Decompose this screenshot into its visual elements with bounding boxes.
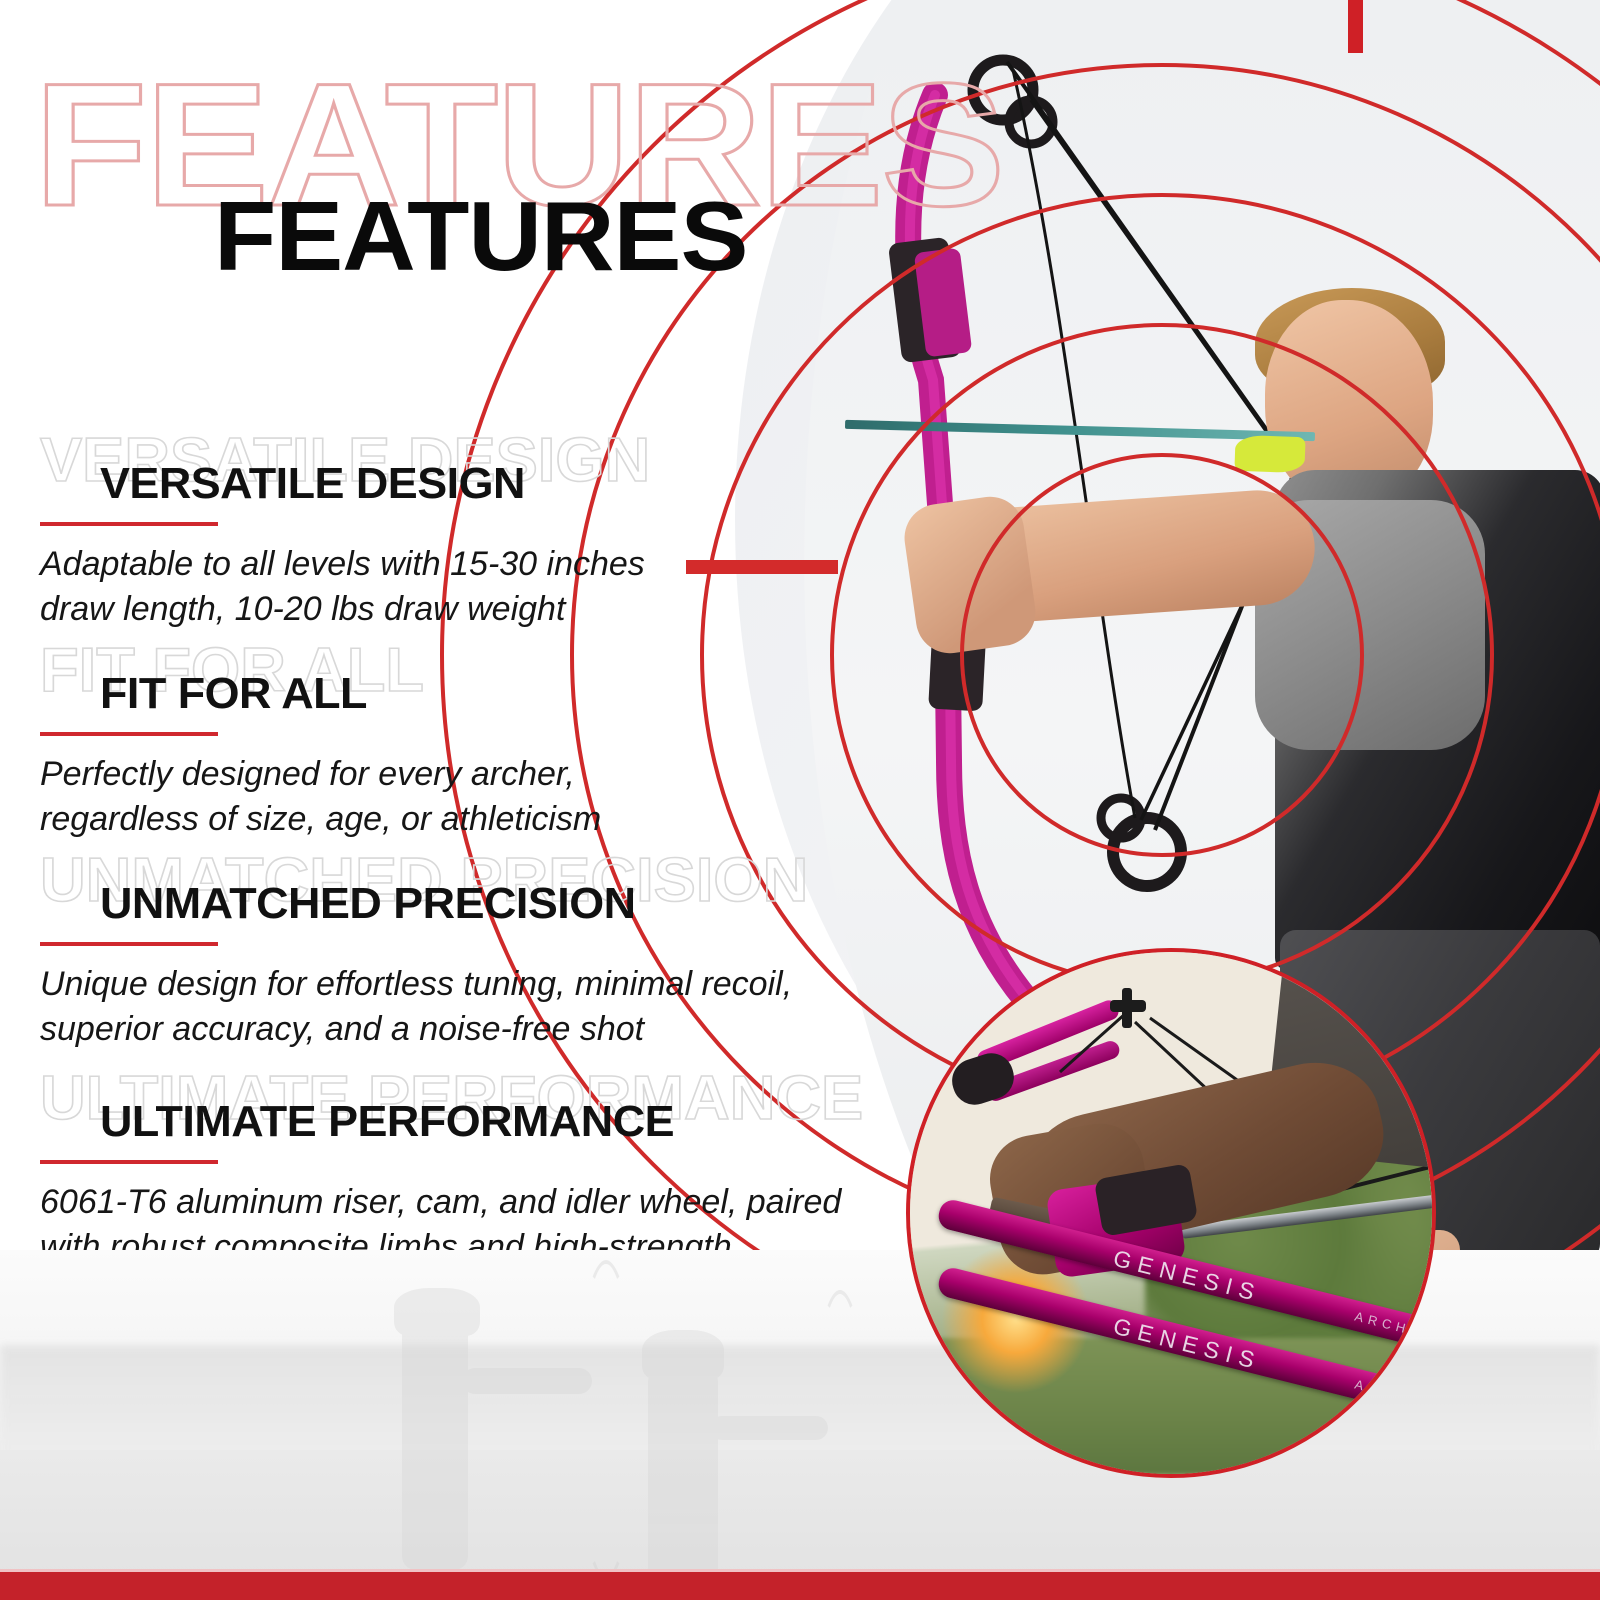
feature-description: Unique design for effortless tuning, min…: [40, 962, 800, 1052]
infographic-canvas: FEATURES FEATURES VERSATILE DESIGN VERSA…: [0, 0, 1600, 1600]
crosshair-tick-vertical: [1348, 0, 1363, 53]
brand-sub-label: ARCH: [1353, 1377, 1412, 1405]
feature-underline: [40, 522, 218, 526]
crosshair-tick-horizontal: [686, 560, 838, 574]
feature-underline: [40, 942, 218, 946]
feature-heading: FIT FOR ALL: [100, 672, 367, 716]
feature-heading: VERSATILE DESIGN: [100, 462, 525, 506]
feature-heading: ULTIMATE PERFORMANCE: [100, 1100, 674, 1144]
bottom-accent-bar: [0, 1572, 1600, 1600]
feature-underline: [40, 1160, 218, 1164]
feature-description: Perfectly designed for every archer, reg…: [40, 752, 740, 842]
page-title: FEATURES: [214, 187, 747, 285]
arrow-fletching: [1234, 435, 1305, 473]
feature-underline: [40, 732, 218, 736]
feature-heading: UNMATCHED PRECISION: [100, 882, 636, 926]
product-detail-inset-photo: GENESIS ARCH GENESIS ARCH: [906, 948, 1436, 1478]
archer-bow-hand: [900, 492, 1040, 657]
feature-description: Adaptable to all levels with 15-30 inche…: [40, 542, 660, 632]
